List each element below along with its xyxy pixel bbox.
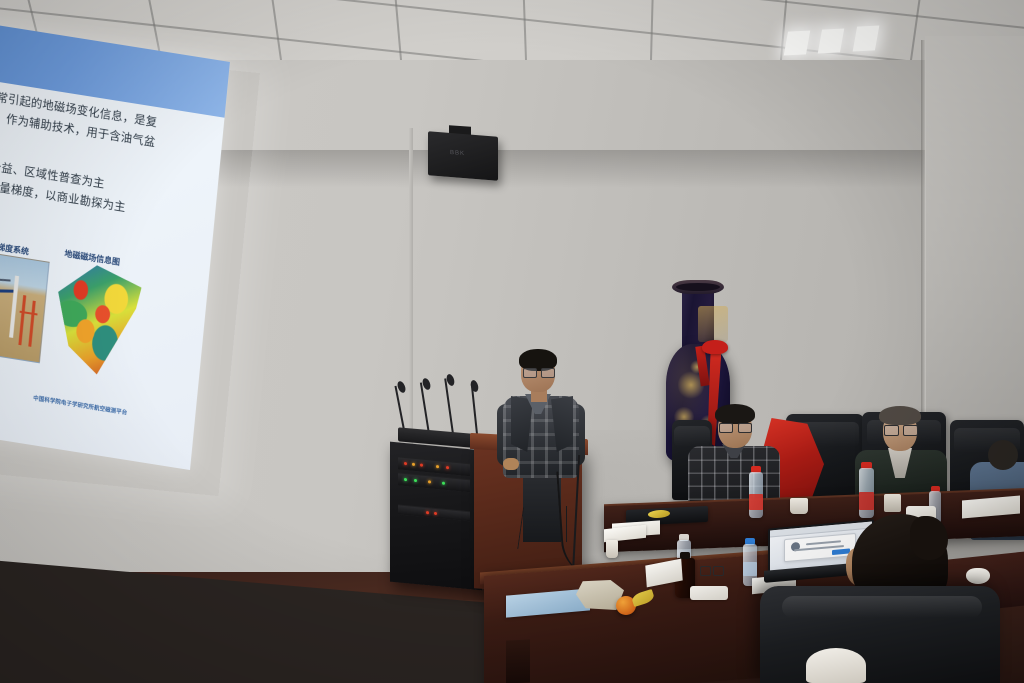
ceiling-light-panel-2 bbox=[818, 28, 845, 53]
foreground-white-object bbox=[806, 648, 866, 683]
helicopter-photo bbox=[0, 247, 50, 363]
attendee-1-hair bbox=[715, 404, 755, 424]
water-bottle-2[interactable] bbox=[858, 462, 875, 518]
ceiling-light-panel-3 bbox=[853, 25, 880, 51]
av-equipment-rack bbox=[390, 442, 482, 591]
projection-screen: 背景 空中探测地质异常引起的地磁场变化信息，是复 源高效勘探技术，作为辅助技术，… bbox=[0, 12, 230, 470]
chair-foreground[interactable] bbox=[760, 586, 1000, 683]
attendee-2-hair bbox=[879, 406, 921, 425]
slide-thumbnails: 探测系统 Jena 张量梯度系统 地磁磁场信息图 bbox=[0, 230, 205, 408]
vase-gold-panel bbox=[698, 306, 728, 342]
glasses-icon bbox=[884, 425, 916, 434]
vase-lip bbox=[672, 280, 724, 294]
slide-logo-text: 中国科学院电子学研究所航空磁测平台 bbox=[33, 394, 128, 417]
ceiling-light-panel-1 bbox=[784, 30, 811, 55]
institute-logo-icon bbox=[30, 389, 32, 406]
magnetic-anomaly-map bbox=[47, 259, 143, 380]
small-jar[interactable] bbox=[884, 494, 901, 512]
napkin-front bbox=[690, 586, 728, 600]
table-leg bbox=[506, 639, 530, 683]
vase-ribbon-bow bbox=[702, 340, 728, 354]
conference-room-scene: 背景 空中探测地质异常引起的地磁场变化信息，是复 源高效勘探技术，作为辅助技术，… bbox=[0, 0, 1024, 683]
wall-conduit bbox=[409, 128, 413, 458]
paper-cup-2[interactable] bbox=[606, 540, 618, 558]
presentation-slide: 背景 空中探测地质异常引起的地磁场变化信息，是复 源高效勘探技术，作为辅助技术，… bbox=[0, 12, 230, 470]
water-bottle-1[interactable] bbox=[748, 466, 764, 518]
attendee-3-head bbox=[988, 440, 1018, 470]
glasses-icon[interactable] bbox=[700, 566, 724, 574]
glasses-icon bbox=[719, 423, 750, 431]
laptop-dialog[interactable] bbox=[784, 533, 855, 562]
wall-speaker: BBK bbox=[428, 131, 498, 181]
presenter-hand bbox=[503, 458, 519, 470]
paper-cup-1[interactable] bbox=[790, 498, 808, 514]
glasses-icon bbox=[523, 368, 553, 376]
attendee-4-ponytail bbox=[910, 516, 948, 560]
speaker-brand-label: BBK bbox=[450, 150, 465, 157]
computer-mouse[interactable] bbox=[966, 568, 990, 584]
rack-panel-3 bbox=[398, 504, 470, 521]
